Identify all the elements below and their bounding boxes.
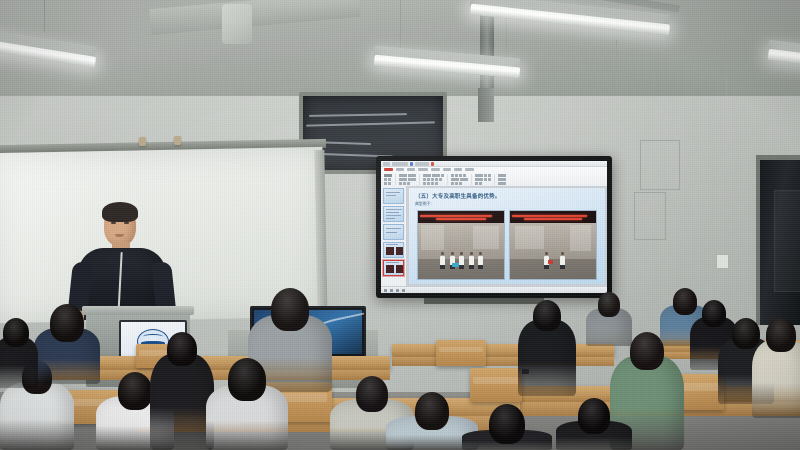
student-head bbox=[118, 372, 152, 410]
student-head bbox=[533, 300, 561, 331]
student-black-polo bbox=[518, 300, 576, 396]
student-head bbox=[228, 358, 266, 401]
student-front-dark-a bbox=[462, 404, 552, 450]
student-torso bbox=[150, 354, 214, 450]
audience bbox=[0, 0, 800, 450]
student-back-row-grey bbox=[586, 292, 632, 346]
student-head bbox=[578, 398, 610, 434]
student-left-edge-hair bbox=[0, 318, 38, 388]
classroom-photo: （五）大专及高职生具备的优势。 典型例子： bbox=[0, 0, 800, 450]
student-head bbox=[489, 404, 525, 444]
student-head bbox=[167, 332, 197, 366]
student-head bbox=[598, 292, 620, 317]
student-head bbox=[766, 318, 796, 352]
student-long-hair-b bbox=[206, 358, 288, 450]
student-front-dark-b bbox=[556, 398, 632, 450]
student-head bbox=[50, 304, 84, 342]
student-navy-back bbox=[34, 304, 100, 384]
student-head bbox=[271, 288, 309, 331]
student-head bbox=[630, 332, 664, 370]
student-head bbox=[3, 318, 29, 347]
student-head bbox=[415, 392, 449, 430]
student-cream-tee bbox=[752, 318, 800, 418]
student-head bbox=[356, 376, 388, 412]
student-long-hair-a bbox=[150, 332, 214, 450]
student-torso bbox=[518, 320, 576, 396]
